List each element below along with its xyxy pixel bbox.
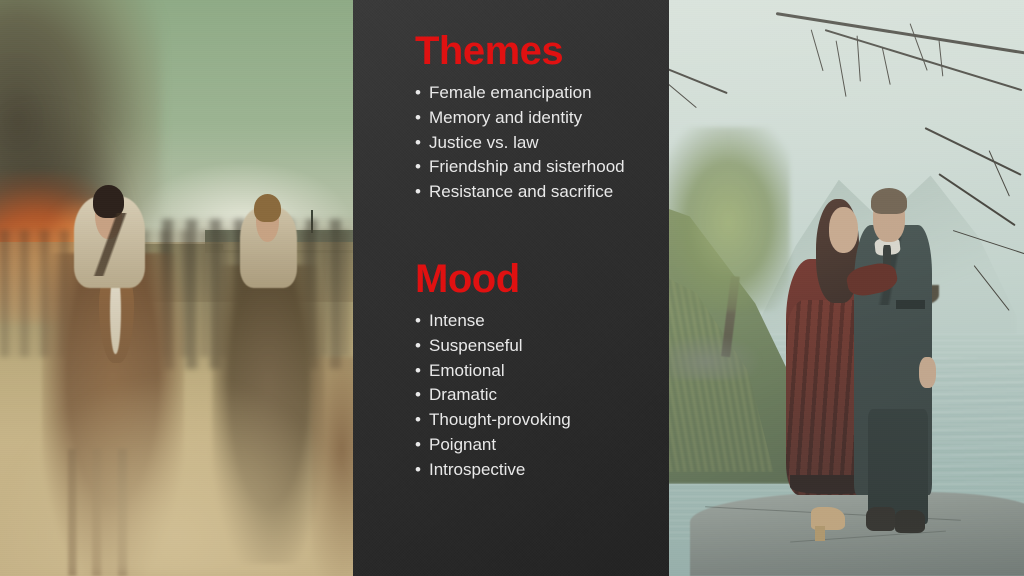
list-item: •Introspective (415, 458, 649, 483)
bullet-icon: • (415, 309, 421, 334)
themes-list: •Female emancipation •Memory and identit… (415, 81, 649, 205)
bullet-icon: • (415, 458, 421, 483)
list-item: •Poignant (415, 433, 649, 458)
mood-section: Mood •Intense •Suspenseful •Emotional •D… (415, 258, 649, 483)
left-photo (0, 0, 353, 576)
foreground-rock (690, 492, 1024, 576)
themes-section: Themes •Female emancipation •Memory and … (415, 30, 649, 205)
list-item: •Emotional (415, 359, 649, 384)
list-item: •Friendship and sisterhood (415, 155, 649, 180)
list-item: •Thought-provoking (415, 408, 649, 433)
list-item-label: Resistance and sacrifice (429, 182, 613, 201)
themes-heading: Themes (415, 30, 649, 72)
bullet-icon: • (415, 106, 421, 131)
list-item-label: Dramatic (429, 385, 497, 404)
dust-haze-foreground (0, 380, 353, 576)
bullet-icon: • (415, 81, 421, 106)
list-item-label: Friendship and sisterhood (429, 157, 625, 176)
list-item-label: Introspective (429, 460, 525, 479)
list-item: •Suspenseful (415, 334, 649, 359)
mood-heading: Mood (415, 258, 649, 300)
list-item-label: Emotional (429, 361, 505, 380)
list-item: •Justice vs. law (415, 131, 649, 156)
bullet-icon: • (415, 131, 421, 156)
right-photo (669, 0, 1024, 576)
bullet-icon: • (415, 383, 421, 408)
list-item-label: Suspenseful (429, 336, 523, 355)
list-item-label: Intense (429, 311, 485, 330)
man-hair (871, 188, 907, 214)
man-boot (866, 507, 894, 531)
tree-canopy (669, 127, 790, 311)
mood-list: •Intense •Suspenseful •Emotional •Dramat… (415, 309, 649, 483)
second-rider-hair (254, 194, 281, 223)
woman-shoe-heel (815, 526, 826, 541)
list-item-label: Justice vs. law (429, 133, 539, 152)
list-item: •Dramatic (415, 383, 649, 408)
man-hand (919, 357, 935, 388)
far-rocks (669, 334, 761, 380)
list-item: •Memory and identity (415, 106, 649, 131)
man-boot (895, 510, 926, 533)
bullet-icon: • (415, 334, 421, 359)
list-item-label: Female emancipation (429, 83, 592, 102)
presentation-slide: Themes •Female emancipation •Memory and … (0, 0, 1024, 576)
bullet-icon: • (415, 433, 421, 458)
bullet-icon: • (415, 180, 421, 205)
bullet-icon: • (415, 155, 421, 180)
text-panel: Themes •Female emancipation •Memory and … (353, 0, 669, 576)
bullet-icon: • (415, 408, 421, 433)
list-item-label: Poignant (429, 435, 496, 454)
woman-head (829, 207, 858, 253)
lead-rider-strap (88, 213, 130, 276)
list-item-label: Thought-provoking (429, 410, 571, 429)
list-item: •Intense (415, 309, 649, 334)
panel-content: Themes •Female emancipation •Memory and … (353, 0, 669, 576)
list-item-label: Memory and identity (429, 108, 582, 127)
list-item: •Female emancipation (415, 81, 649, 106)
bullet-icon: • (415, 359, 421, 384)
man-coat-pocket (896, 300, 924, 309)
list-item: •Resistance and sacrifice (415, 180, 649, 205)
